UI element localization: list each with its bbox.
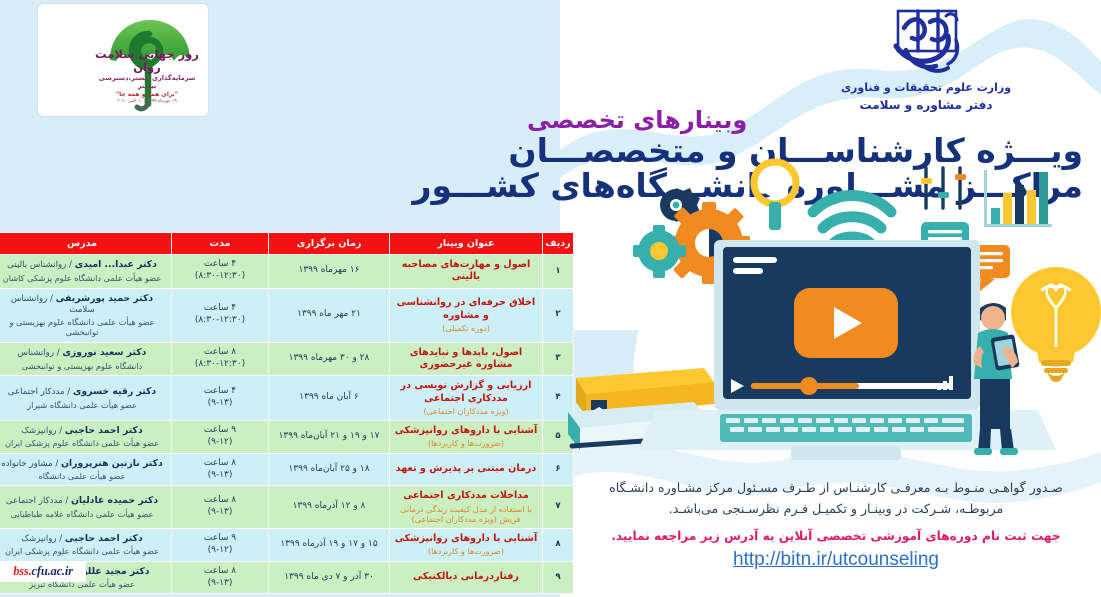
watermark-prefix: bss. xyxy=(13,564,31,579)
lecturer-role: / روانپزشک xyxy=(21,534,62,544)
duration-hours-text: ۸ ساعت xyxy=(176,495,264,507)
magnifier-icon xyxy=(754,162,796,230)
cell-row-number: ۷ xyxy=(543,486,574,528)
lecturer-name: دکتر سعید نوروزی xyxy=(62,347,146,358)
cell-date: ۱۸ و ۲۵ آبان‌ماه ۱۳۹۹ xyxy=(269,453,390,486)
schedule-table-wrapper: ردیف عنوان وبینار زمان برگزاری مدت مدرس … xyxy=(18,232,574,594)
lecturer-role: / مشاور خانواده xyxy=(1,459,58,469)
date-text: ۱۵ و ۱۷ و ۱۹ آذرماه ۱۳۹۹ xyxy=(273,539,385,551)
lecturer-line: دکتر حمیده عادلیان / مددکار اجتماعی xyxy=(0,495,167,507)
table-row: ۲اخلاق حرفه‌ای در روانشناسی و مشاوره(دور… xyxy=(0,288,574,342)
cell-lecturer: دکتر نازنین هنرپروران / مشاور خانوادهعضو… xyxy=(0,453,172,486)
date-text: ۸ و ۱۲ آذرماه ۱۳۹۹ xyxy=(273,501,385,513)
cell-duration: ۸ ساعت(۹-۱۳) xyxy=(172,453,269,486)
lecturer-name: دکتر مجید عللو xyxy=(82,566,150,577)
lecturer-name: دکتر حمیده عادلیان xyxy=(71,495,158,506)
lecturer-role: / مددکار اجتماعی xyxy=(6,496,68,506)
cell-lecturer: دکتر حمیده عادلیان / مددکار اجتماعیعضو ه… xyxy=(0,486,172,528)
site-watermark: bss.cfu.ac.ir xyxy=(0,561,86,582)
cell-webinar-title: اصول و مهارت‌های مصاحبه بالینی xyxy=(390,255,543,289)
duration-range-text: (۹-۱۳) xyxy=(176,578,264,590)
poster-canvas: روز جهانی سلامت روان سرمایه‌گذاری بیشتر،… xyxy=(0,0,1101,597)
duration-hours-text: ۹ ساعت xyxy=(176,425,264,437)
table-row: ۵آشنایی با داروهای روانپزشکی(ضرورت‌ها و … xyxy=(0,420,574,453)
mhd-line-3: "برای همه و همه جا" xyxy=(94,92,200,99)
cell-lecturer: دکتر عبدا... امیدی / روانشناس بالینیعضو … xyxy=(0,255,172,289)
date-text: ۱۸ و ۲۵ آبان‌ماه ۱۳۹۹ xyxy=(273,464,385,476)
cell-date: ۱۷ و ۱۹ و ۲۱ آبان‌ماه ۱۳۹۹ xyxy=(269,420,390,453)
cell-date: ۳۰ آذر و ۷ دی ماه ۱۳۹۹ xyxy=(269,561,390,594)
duration-hours-text: ۸ ساعت xyxy=(176,347,264,359)
lecturer-line: دکتر احمد حاجبی / روانپزشک xyxy=(0,425,167,437)
lecturer-affiliation: عضو هیأت علمی دانشگاه علوم پزشکی ایران xyxy=(0,546,167,556)
date-text: ۶ آبان ماه ۱۳۹۹ xyxy=(273,392,385,404)
cell-lecturer: دکتر رقیه خسروی / مددکار اجتماعیعضو هیأت… xyxy=(0,376,172,421)
footer-block: صـدور گواهـی منـوط بـه معرفـی کارشنـاس ا… xyxy=(586,478,1086,571)
mhd-logo-text: روز جهانی سلامت روان سرمایه‌گذاری بیشتر،… xyxy=(94,48,200,105)
cell-lecturer: دکتر احمد حاجبی / روانپزشکعضو هیأت علمی … xyxy=(0,420,172,453)
date-text: ۱۷ و ۱۹ و ۲۱ آبان‌ماه ۱۳۹۹ xyxy=(273,431,385,443)
headline-kicker: وبینارهای تخصصی xyxy=(527,108,1083,132)
certificate-note: صـدور گواهـی منـوط بـه معرفـی کارشنـاس ا… xyxy=(586,478,1086,520)
webinar-title-text: درمان مبتنی بر پذیرش و تعهد xyxy=(394,463,538,475)
webinar-title-text: ارزیابی و گزارش نویسی در مددکاری اجتماعی xyxy=(394,380,538,405)
org-logo-block: وزارت علوم تحقیقات و فناوری دفتر مشاوره … xyxy=(806,6,1046,118)
lecturer-line: دکتر سعید نوروزی / روانشناس xyxy=(0,347,167,359)
cell-date: ۶ آبان ماه ۱۳۹۹ xyxy=(269,376,390,421)
webinar-title-text: اخلاق حرفه‌ای در روانشناسی و مشاوره xyxy=(394,297,538,322)
duration-range-text: (۸:۳۰-۱۲:۳۰) xyxy=(176,271,264,283)
duration-range-text: (۹-۱۲) xyxy=(176,545,264,557)
table-row: ۸آشنایی با داروهای روانپزشکی(ضرورت‌ها و … xyxy=(0,528,574,561)
cell-webinar-title: درمان مبتنی بر پذیرش و تعهد xyxy=(390,453,543,486)
table-row: ۱اصول و مهارت‌های مصاحبه بالینی۱۶ مهرماه… xyxy=(0,255,574,289)
cell-lecturer: دکتر حمید پورشریفی / روانشناس سلامتعضو ه… xyxy=(0,288,172,342)
duration-hours-text: ۴ ساعت xyxy=(176,386,264,398)
table-row: ۹رفتاردرمانی دیالکتیکی۳۰ آذر و ۷ دی ماه … xyxy=(0,561,574,594)
cell-duration: ۸ ساعت(۹-۱۳) xyxy=(172,561,269,594)
lecturer-affiliation: عضو هیأت علمی دانشگاه علامه طباطبایی xyxy=(0,509,167,519)
lecturer-affiliation: عضو هیأت علمی دانشگاه xyxy=(0,471,167,481)
column-header-lecturer: مدرس xyxy=(0,233,172,255)
duration-hours-text: ۴ ساعت xyxy=(176,303,264,315)
cell-duration: ۹ ساعت(۹-۱۲) xyxy=(172,420,269,453)
cell-webinar-title: مداخلات مددکاری اجتماعیبا استفاده از مدل… xyxy=(390,486,543,528)
webinar-subnote-text: (ضرورت‌ها و کاربردها) xyxy=(394,438,538,448)
bar-chart-icon xyxy=(984,170,1052,227)
watermark-suffix: cfu.ac.ir xyxy=(32,564,73,579)
mhd-line-2: سرمایه‌گذاری بیشتر،دسترسی بیشتر xyxy=(94,75,200,90)
cell-date: ۲۸ و ۳۰ مهرماه ۱۳۹۹ xyxy=(269,342,390,376)
lecturer-role: / روانشناس xyxy=(18,348,60,358)
date-text: ۱۶ مهرماه ۱۳۹۹ xyxy=(273,265,385,277)
lecturer-affiliation: دانشگاه علوم بهزیستی و توانبخشی xyxy=(0,361,167,371)
lecturer-name: دکتر احمد حاجبی xyxy=(65,425,143,436)
webinar-subnote-text: (ویژه مددکاران اجتماعی) xyxy=(394,406,538,416)
webinar-title-text: آشنایی با داروهای روانپزشکی xyxy=(394,533,538,545)
cell-date: ۱۵ و ۱۷ و ۱۹ آذرماه ۱۳۹۹ xyxy=(269,528,390,561)
date-text: ۳۰ آذر و ۷ دی ماه ۱۳۹۹ xyxy=(273,572,385,584)
sliders-icon xyxy=(921,168,966,208)
lecturer-name: دکتر رقیه خسروی xyxy=(73,386,156,397)
lecturer-line: دکتر نازنین هنرپروران / مشاور خانواده xyxy=(0,458,167,470)
webinar-title-text: رفتاردرمانی دیالکتیکی xyxy=(394,571,538,583)
lecturer-affiliation: عضو هیأت علمی دانشگاه علوم پزشکی کاشان xyxy=(0,273,167,283)
duration-hours-text: ۹ ساعت xyxy=(176,533,264,545)
registration-cta: جهت ثبت نام دوره‌های آموزشی تخصصی آنلاین… xyxy=(586,529,1086,543)
duration-range-text: (۹-۱۳) xyxy=(176,398,264,410)
cell-webinar-title: اصول، بایدها و نبایدهای مشاوره غیرحضوری xyxy=(390,342,543,376)
lecturer-affiliation: عضو هیأت علمی دانشگاه شیراز xyxy=(0,400,167,410)
column-header-duration: مدت xyxy=(172,233,269,255)
table-row: ۶درمان مبتنی بر پذیرش و تعهد۱۸ و ۲۵ آبان… xyxy=(0,453,574,486)
table-header-row: ردیف عنوان وبینار زمان برگزاری مدت مدرس xyxy=(0,233,574,255)
date-text: ۲۱ مهر ماه ۱۳۹۹ xyxy=(273,309,385,321)
cell-duration: ۹ ساعت(۹-۱۲) xyxy=(172,528,269,561)
lecturer-role: / روانپزشک xyxy=(21,426,62,436)
mhd-line-1: روز جهانی سلامت روان xyxy=(94,48,200,74)
column-header-date: زمان برگزاری xyxy=(269,233,390,255)
cell-row-number: ۹ xyxy=(543,561,574,594)
cell-duration: ۸ ساعت(۸:۳۰-۱۲:۳۰) xyxy=(172,342,269,376)
table-row: ۳اصول، بایدها و نبایدهای مشاوره غیرحضوری… xyxy=(0,342,574,376)
lecturer-name: دکتر نازنین هنرپروران xyxy=(61,458,163,469)
lecturer-name: دکتر عبدا... امیدی xyxy=(75,259,157,270)
webinar-subnote-text: با استفاده از مدل کیفیت زندگی درمانی فری… xyxy=(394,504,538,524)
mhd-line-4: ۱۹ مهرماه ۱۳۹۹ | ۱۰ اکتبر ۲۰۲۰ xyxy=(94,99,200,104)
duration-hours-text: ۴ ساعت xyxy=(176,259,264,271)
cell-date: ۲۱ مهر ماه ۱۳۹۹ xyxy=(269,288,390,342)
online-learning-illustration xyxy=(566,150,1101,472)
cell-duration: ۴ ساعت(۹-۱۳) xyxy=(172,376,269,421)
duration-range-text: (۹-۱۳) xyxy=(176,470,264,482)
lightbulb-icon xyxy=(1011,267,1101,382)
date-text: ۲۸ و ۳۰ مهرماه ۱۳۹۹ xyxy=(273,353,385,365)
table-row: ۴ارزیابی و گزارش نویسی در مددکاری اجتماع… xyxy=(0,376,574,421)
lecturer-affiliation: عضو هیأت علمی دانشگاه علوم بهزیستی و توا… xyxy=(0,317,167,338)
lecturer-line: دکتر رقیه خسروی / مددکار اجتماعی xyxy=(0,386,167,398)
lecturer-name: دکتر حمید پورشریفی xyxy=(56,293,154,304)
column-header-title: عنوان وبینار xyxy=(390,233,543,255)
lecturer-role: / مددکار اجتماعی xyxy=(8,387,70,397)
cell-duration: ۴ ساعت(۸:۳۰-۱۲:۳۰) xyxy=(172,288,269,342)
webinar-title-text: مداخلات مددکاری اجتماعی xyxy=(394,490,538,502)
lecturer-role: / روانشناس بالینی xyxy=(7,260,72,270)
webinar-schedule-table: ردیف عنوان وبینار زمان برگزاری مدت مدرس … xyxy=(0,232,574,594)
cell-date: ۱۶ مهرماه ۱۳۹۹ xyxy=(269,255,390,289)
org-ministry-label: وزارت علوم تحقیقات و فناوری xyxy=(806,81,1046,94)
lecturer-name: دکتر احمد حاجبی xyxy=(65,533,143,544)
duration-range-text: (۹-۱۲) xyxy=(176,437,264,449)
cell-webinar-title: ارزیابی و گزارش نویسی در مددکاری اجتماعی… xyxy=(390,376,543,421)
table-row: ۷مداخلات مددکاری اجتماعیبا استفاده از مد… xyxy=(0,486,574,528)
cell-webinar-title: آشنایی با داروهای روانپزشکی(ضرورت‌ها و ک… xyxy=(390,528,543,561)
registration-url-link[interactable]: http://bitn.ir/utcounseling xyxy=(733,549,939,571)
world-mental-health-day-logo: روز جهانی سلامت روان سرمایه‌گذاری بیشتر،… xyxy=(38,4,208,116)
cell-webinar-title: اخلاق حرفه‌ای در روانشناسی و مشاوره(دوره… xyxy=(390,288,543,342)
webinar-subnote-text: (دوره تکمیلی) xyxy=(394,323,538,333)
cell-duration: ۸ ساعت(۹-۱۳) xyxy=(172,486,269,528)
duration-hours-text: ۸ ساعت xyxy=(176,458,264,470)
webinar-title-text: اصول، بایدها و نبایدهای مشاوره غیرحضوری xyxy=(394,347,538,372)
cell-row-number: ۸ xyxy=(543,528,574,561)
webinar-title-text: آشنایی با داروهای روانپزشکی xyxy=(394,425,538,437)
cell-webinar-title: آشنایی با داروهای روانپزشکی(ضرورت‌ها و ک… xyxy=(390,420,543,453)
lecturer-line: دکتر عبدا... امیدی / روانشناس بالینی xyxy=(0,259,167,271)
duration-hours-text: ۸ ساعت xyxy=(176,566,264,578)
cell-date: ۸ و ۱۲ آذرماه ۱۳۹۹ xyxy=(269,486,390,528)
duration-range-text: (۹-۱۳) xyxy=(176,507,264,519)
cell-webinar-title: رفتاردرمانی دیالکتیکی xyxy=(390,561,543,594)
lecturer-line: دکتر حمید پورشریفی / روانشناس سلامت xyxy=(0,293,167,317)
lecturer-affiliation: عضو هیأت علمی دانشگاه علوم پزشکی ایران xyxy=(0,438,167,448)
student-affairs-wordmark-icon xyxy=(860,6,992,78)
lecturer-line: دکتر احمد حاجبی / روانپزشک xyxy=(0,533,167,545)
duration-range-text: (۸:۳۰-۱۲:۳۰) xyxy=(176,315,264,327)
webinar-title-text: اصول و مهارت‌های مصاحبه بالینی xyxy=(394,259,538,284)
cell-duration: ۴ ساعت(۸:۳۰-۱۲:۳۰) xyxy=(172,255,269,289)
cell-lecturer: دکتر احمد حاجبی / روانپزشکعضو هیأت علمی … xyxy=(0,528,172,561)
webinar-subnote-text: (ضرورت‌ها و کاربردها) xyxy=(394,546,538,556)
wifi-icon xyxy=(813,196,891,244)
cell-lecturer: دکتر سعید نوروزی / روانشناسدانشگاه علوم … xyxy=(0,342,172,376)
duration-range-text: (۸:۳۰-۱۲:۳۰) xyxy=(176,359,264,371)
